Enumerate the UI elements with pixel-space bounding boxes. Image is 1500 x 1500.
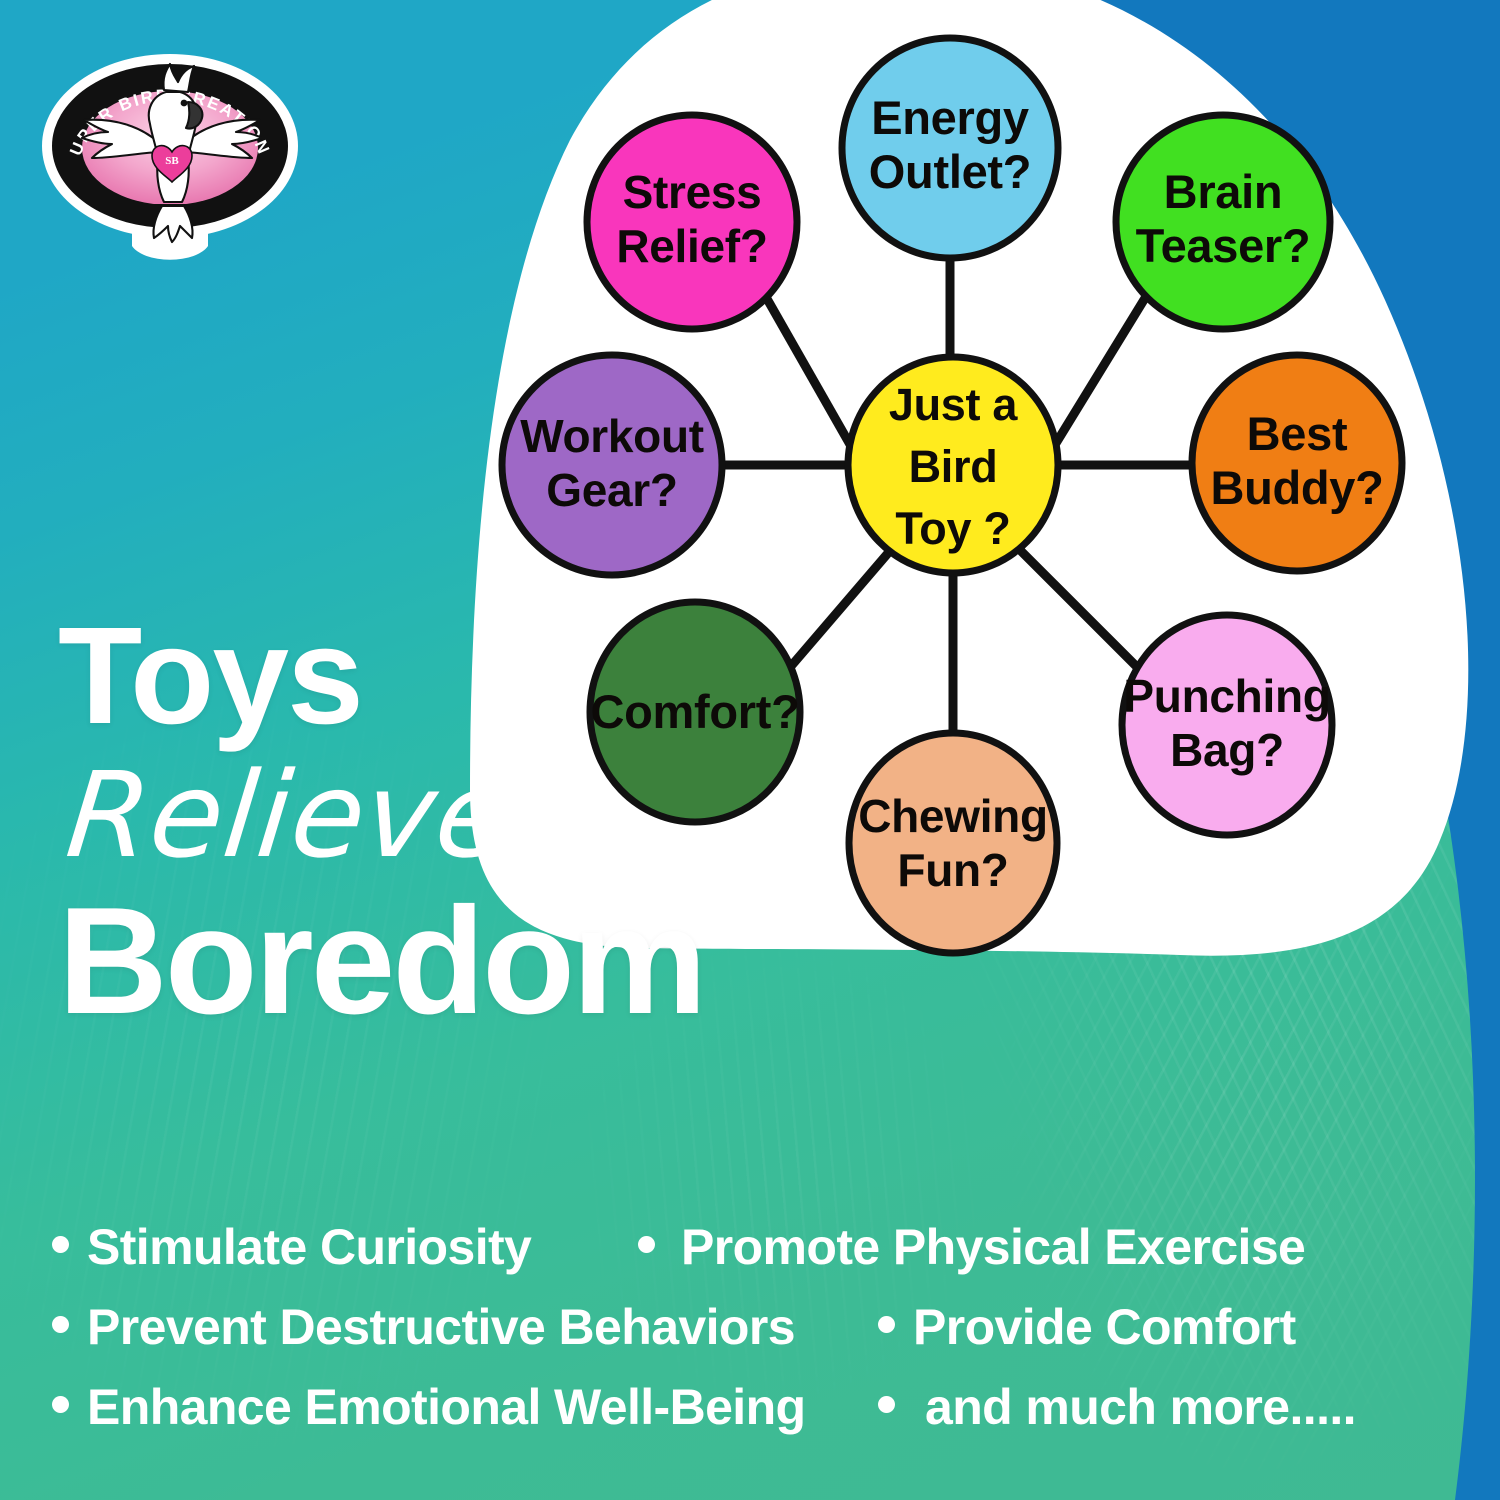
node-best-buddy-line2: Buddy?	[1210, 461, 1383, 514]
node-energy-outlet-line2: Outlet?	[869, 145, 1031, 198]
headline-line-relieve: Relieve	[62, 756, 884, 874]
node-workout-gear-line1: Workout	[520, 410, 704, 462]
node-best-buddy[interactable]: Best Buddy?	[1192, 355, 1402, 571]
benefit-and-much-more: and much more.....	[878, 1378, 1356, 1436]
node-punching-bag[interactable]: Punching Bag?	[1122, 615, 1332, 835]
node-brain-teaser-line1: Brain	[1164, 165, 1283, 218]
node-punching-bag-line2: Bag?	[1170, 724, 1284, 776]
brand-logo[interactable]: SUPER BIRD CREATIONS SB	[36, 34, 304, 266]
node-center-line2: Bird	[909, 441, 998, 492]
bullet-icon	[878, 1316, 895, 1333]
headline-line-toys: Toys	[58, 612, 878, 742]
node-energy-outlet[interactable]: Energy Outlet?	[842, 38, 1058, 258]
benefit-text: Stimulate Curiosity	[87, 1218, 531, 1276]
benefits-row-3: Enhance Emotional Well-Being and much mo…	[52, 1378, 1452, 1436]
benefit-text: and much more.....	[925, 1378, 1356, 1436]
benefit-prevent-destructive-behaviors: Prevent Destructive Behaviors	[52, 1298, 852, 1356]
node-workout-gear[interactable]: Workout Gear?	[502, 355, 722, 575]
node-center-just-a-bird-toy[interactable]: Just a Bird Toy ?	[848, 357, 1058, 573]
node-stress-relief-line2: Relief?	[616, 220, 767, 272]
node-center-line1: Just a	[889, 379, 1019, 430]
benefit-text: Promote Physical Exercise	[681, 1218, 1305, 1276]
poster-canvas: SUPER BIRD CREATIONS SB	[0, 0, 1500, 1500]
bullet-icon	[52, 1396, 69, 1413]
benefit-enhance-emotional-well-being: Enhance Emotional Well-Being	[52, 1378, 852, 1436]
benefits-row-1: Stimulate Curiosity Promote Physical Exe…	[52, 1218, 1452, 1276]
node-chewing-fun-line2: Fun?	[897, 844, 1008, 896]
node-punching-bag-line1: Punching	[1123, 670, 1330, 722]
node-stress-relief[interactable]: Stress Relief?	[587, 115, 797, 329]
benefit-text: Provide Comfort	[913, 1298, 1296, 1356]
benefit-text: Enhance Emotional Well-Being	[87, 1378, 805, 1436]
node-energy-outlet-line1: Energy	[871, 91, 1029, 144]
benefit-promote-physical-exercise: Promote Physical Exercise	[638, 1218, 1305, 1276]
node-best-buddy-line1: Best	[1247, 407, 1348, 460]
bullet-icon	[52, 1236, 69, 1253]
node-center-line3: Toy ?	[895, 503, 1010, 554]
bullet-icon	[52, 1316, 69, 1333]
node-stress-relief-line1: Stress	[623, 166, 762, 218]
bullet-icon	[878, 1396, 895, 1413]
benefit-stimulate-curiosity: Stimulate Curiosity	[52, 1218, 612, 1276]
node-brain-teaser-line2: Teaser?	[1136, 219, 1311, 272]
benefits-row-2: Prevent Destructive Behaviors Provide Co…	[52, 1298, 1452, 1356]
node-brain-teaser[interactable]: Brain Teaser?	[1116, 115, 1330, 329]
benefits-list: Stimulate Curiosity Promote Physical Exe…	[52, 1218, 1452, 1436]
logo-monogram: SB	[165, 155, 179, 167]
headline-block: Toys Relieve Boredom	[58, 612, 878, 1032]
node-chewing-fun-line1: Chewing	[858, 790, 1048, 842]
node-workout-gear-line2: Gear?	[546, 464, 677, 516]
benefit-provide-comfort: Provide Comfort	[878, 1298, 1296, 1356]
headline-line-boredom: Boredom	[58, 892, 878, 1032]
bullet-icon	[638, 1236, 655, 1253]
benefit-text: Prevent Destructive Behaviors	[87, 1298, 795, 1356]
